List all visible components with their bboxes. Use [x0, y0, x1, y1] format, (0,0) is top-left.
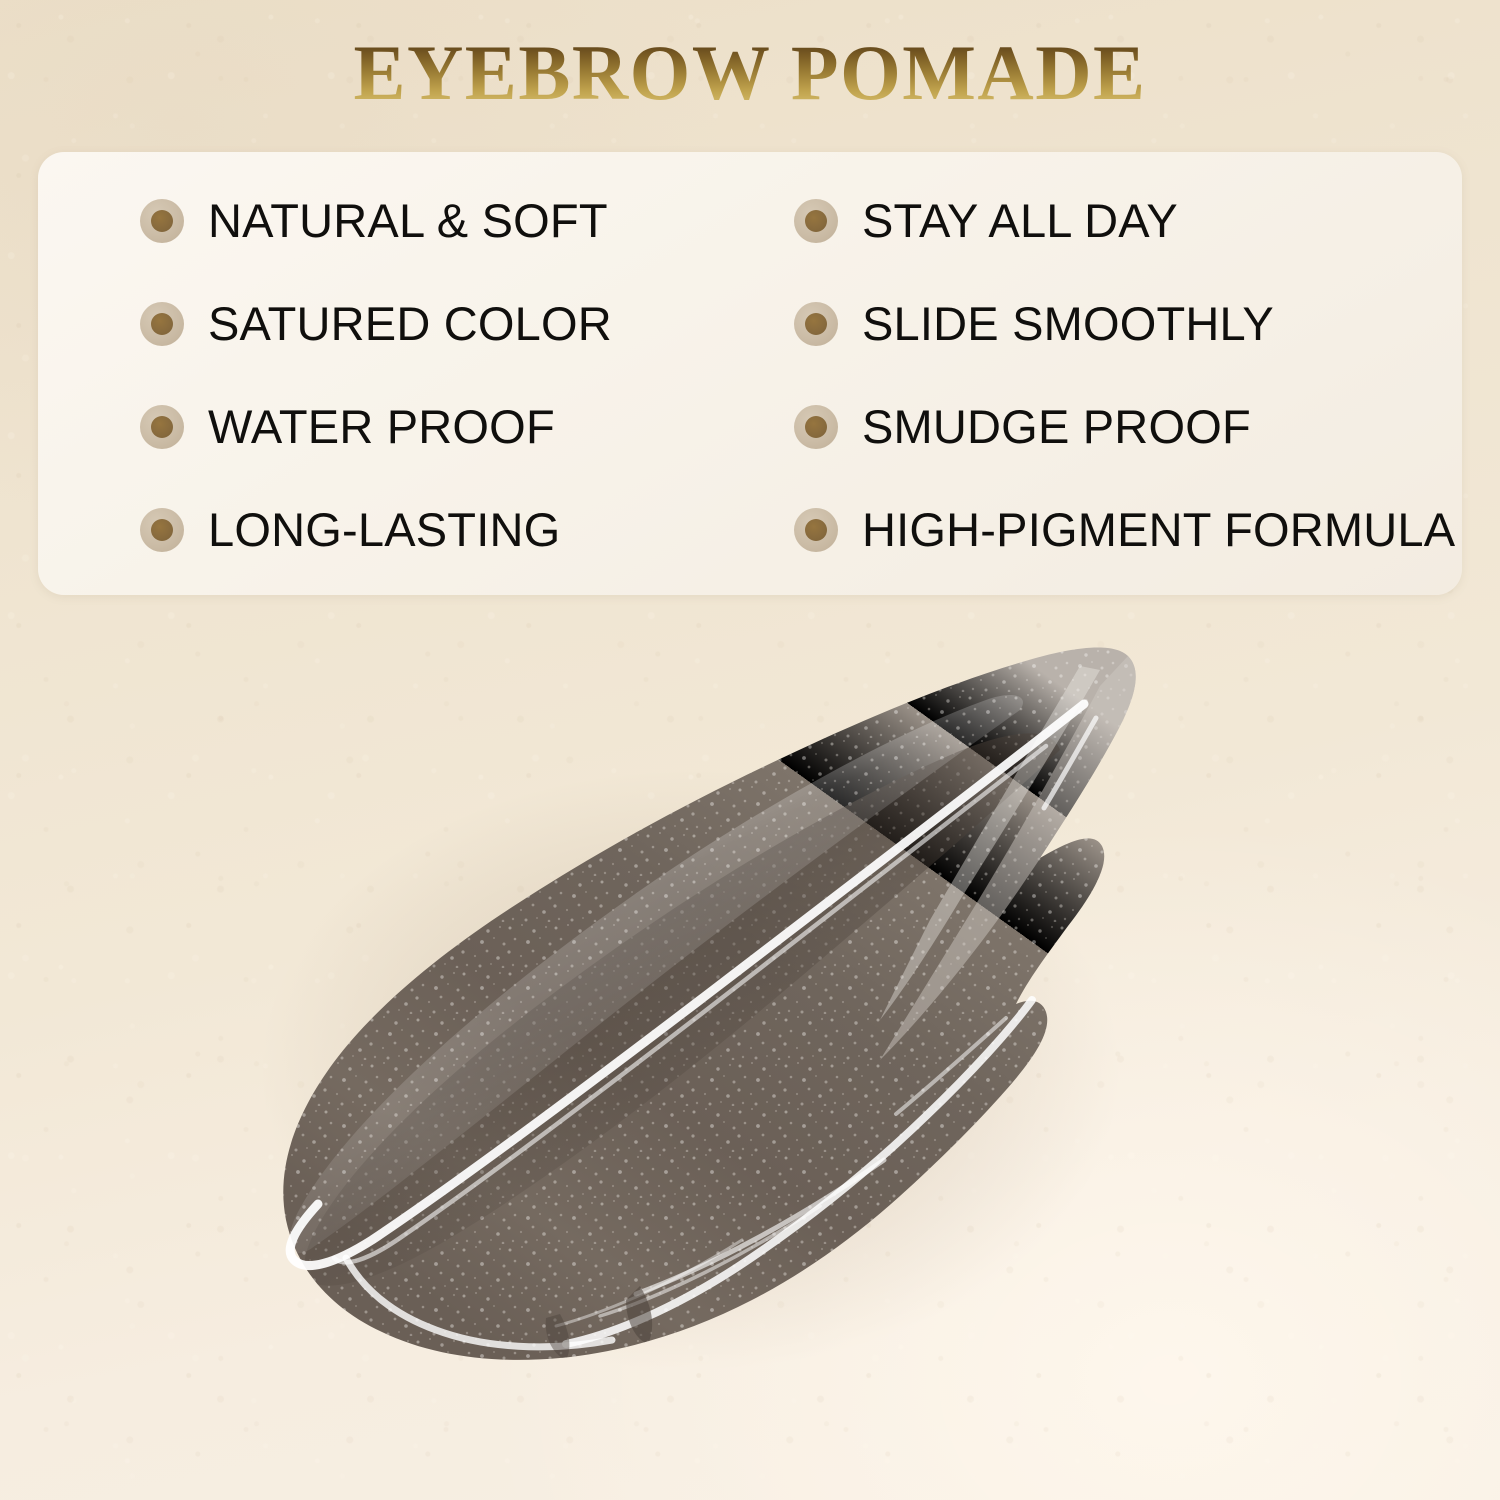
swatch-tip-feather [880, 656, 1136, 1060]
feature-item-stay-all-day: STAY ALL DAY [728, 170, 1462, 273]
feature-list-card: NATURAL & SOFT STAY ALL DAY SATURED COLO… [38, 152, 1462, 595]
product-image-canvas: EYEBROW POMADE NATURAL & SOFT STAY ALL D… [0, 0, 1500, 1500]
swatch-tip-glint [1044, 718, 1096, 808]
feature-item-satured-color: SATURED COLOR [38, 273, 728, 376]
swatch-sheen [289, 695, 1023, 1253]
swatch-streak-2 [600, 1206, 820, 1316]
bullet-dot-icon [794, 199, 838, 243]
bullet-dot-icon [794, 302, 838, 346]
swatch-streak-4 [896, 1018, 1006, 1114]
feature-label: NATURAL & SOFT [208, 195, 608, 247]
swatch-highlight-inner-rim [334, 746, 1046, 1262]
bullet-dot-icon [794, 508, 838, 552]
feature-item-slide-smoothly: SLIDE SMOOTHLY [728, 273, 1462, 376]
swatch-streak-3 [556, 1240, 742, 1326]
feature-label: HIGH-PIGMENT FORMULA [862, 504, 1455, 556]
feature-label: LONG-LASTING [208, 504, 560, 556]
feature-item-natural-soft: NATURAL & SOFT [38, 170, 728, 273]
pomade-smear-illustration [0, 600, 1500, 1500]
swatch-highlight-base [346, 1258, 612, 1347]
feature-label: SMUDGE PROOF [862, 401, 1251, 453]
feature-item-high-pigment-formula: HIGH-PIGMENT FORMULA [728, 478, 1462, 581]
feature-label: STAY ALL DAY [862, 195, 1178, 247]
feature-item-smudge-proof: SMUDGE PROOF [728, 376, 1462, 479]
bullet-dot-icon [140, 508, 184, 552]
swatch-highlight-lower-rim [566, 1000, 1032, 1344]
swatch-trough-shadow [304, 733, 1060, 1285]
page-title: EYEBROW POMADE [0, 28, 1500, 118]
swatch-bottom-notches [546, 1286, 652, 1360]
feature-grid: NATURAL & SOFT STAY ALL DAY SATURED COLO… [38, 152, 1462, 595]
feature-item-water-proof: WATER PROOF [38, 376, 728, 479]
bullet-dot-icon [140, 199, 184, 243]
feature-label: SATURED COLOR [208, 298, 612, 350]
swatch-drop-shadow [260, 770, 1120, 1370]
bullet-dot-icon [140, 302, 184, 346]
bullet-dot-icon [794, 405, 838, 449]
swatch-streak-1 [636, 1160, 884, 1294]
swatch-body [283, 647, 1135, 1359]
bullet-dot-icon [140, 405, 184, 449]
feature-item-long-lasting: LONG-LASTING [38, 478, 728, 581]
swatch-shimmer-texture [250, 620, 1170, 1400]
feature-label: SLIDE SMOOTHLY [862, 298, 1274, 350]
pomade-smear-swatch [0, 600, 1500, 1500]
feature-label: WATER PROOF [208, 401, 555, 453]
swatch-highlight-upper-rim [290, 704, 1084, 1266]
